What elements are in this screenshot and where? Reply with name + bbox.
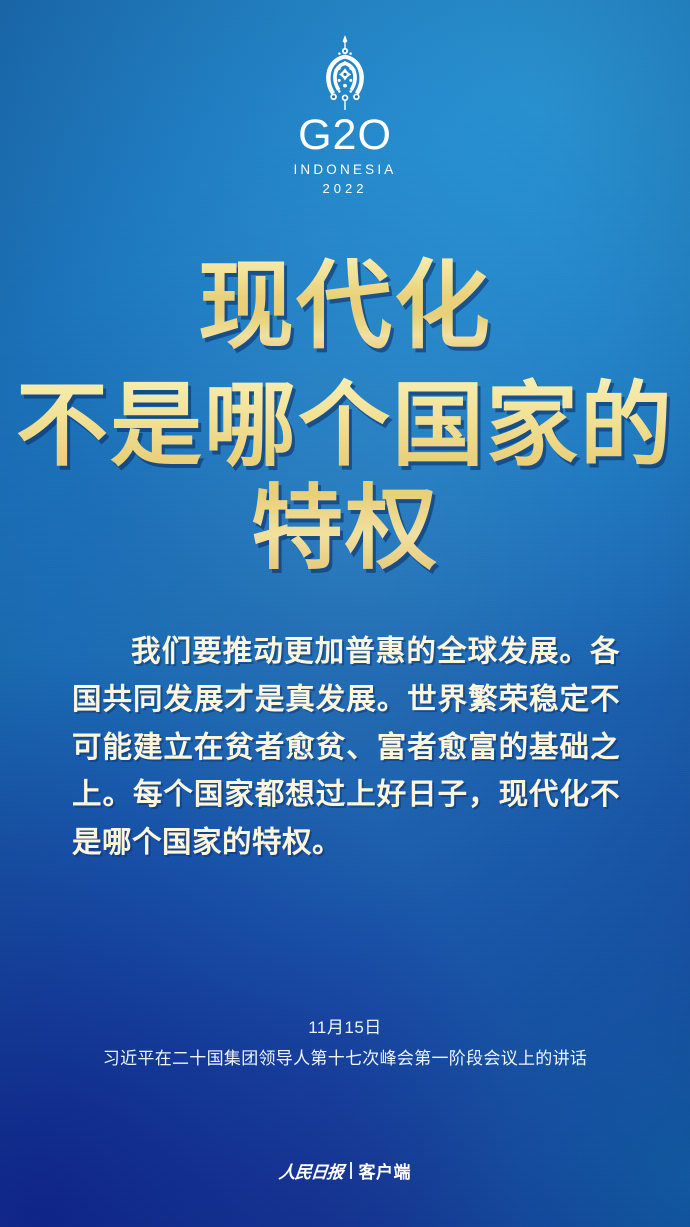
g20-wordmark: G2O [298,114,392,157]
g20-batik-motif-icon [309,34,381,112]
peoples-daily-logo: 人民日报 [278,1158,345,1183]
g20-year-label: 2022 [323,182,368,195]
footer-attribution: 11月15日 习近平在二十国集团领导人第十七次峰会第一阶段会议上的讲话 [0,1018,690,1070]
brand-app-name: 客户端 [359,1158,412,1183]
brand-divider [350,1162,352,1179]
footer-source: 习近平在二十国集团领导人第十七次峰会第一阶段会议上的讲话 [0,1049,690,1069]
g20-logo: G2O INDONESIA 2022 [0,34,690,195]
poster-canvas: G2O INDONESIA 2022 现代化 不是哪个国家的特权 我们要推动更加… [0,0,690,1227]
publisher-brand: 人民日报 客户端 [0,1158,690,1183]
g20-country-label: INDONESIA [293,163,396,177]
headline-line-2: 不是哪个国家的特权 [0,374,690,580]
headline-line-1: 现代化 [0,252,690,360]
footer-date: 11月15日 [0,1018,690,1038]
page-title: 现代化 不是哪个国家的特权 [0,252,690,580]
quote-paragraph: 我们要推动更加普惠的全球发展。各国共同发展才是真发展。世界繁荣稳定不可能建立在贫… [72,628,620,867]
